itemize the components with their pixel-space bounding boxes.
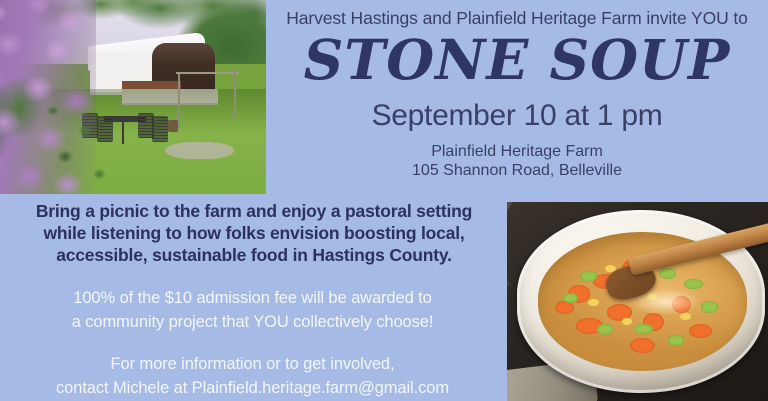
event-description: Bring a picnic to the farm and enjoy a p… bbox=[0, 200, 508, 266]
barn-dark-highlight bbox=[152, 43, 216, 62]
fee-line: a community project that YOU collectivel… bbox=[0, 310, 505, 334]
description-line: while listening to how folks envision bo… bbox=[0, 222, 508, 244]
description-line: Bring a picnic to the farm and enjoy a p… bbox=[0, 200, 508, 222]
soup-pot-photo bbox=[507, 202, 768, 401]
lilac-leaves bbox=[37, 89, 117, 194]
contact-line: For more information or to get involved, bbox=[0, 352, 505, 376]
patio-table-leg bbox=[122, 122, 124, 143]
event-date: September 10 at 1 pm bbox=[266, 99, 768, 133]
event-poster: Harvest Hastings and Plainfield Heritage… bbox=[0, 0, 768, 401]
invite-line: Harvest Hastings and Plainfield Heritage… bbox=[266, 8, 768, 29]
patio-chair bbox=[152, 116, 168, 141]
clothesline-beam bbox=[176, 72, 240, 74]
stump bbox=[168, 120, 179, 132]
contact-line: contact Michele at Plainfield.heritage.f… bbox=[0, 376, 505, 400]
description-line: accessible, sustainable food in Hastings… bbox=[0, 244, 508, 266]
gravel-pad bbox=[165, 142, 234, 159]
post-right bbox=[234, 70, 236, 120]
page-title: STONE SOUP bbox=[266, 30, 768, 90]
farm-barn-lilac-photo bbox=[0, 0, 266, 194]
venue-name: Plainfield Heritage Farm bbox=[266, 142, 768, 161]
contact-info: For more information or to get involved,… bbox=[0, 352, 505, 400]
admission-fee-note: 100% of the $10 admission fee will be aw… bbox=[0, 286, 505, 334]
post-left bbox=[178, 74, 180, 128]
fee-line: 100% of the $10 admission fee will be aw… bbox=[0, 286, 505, 310]
venue-address: 105 Shannon Road, Belleville bbox=[266, 161, 768, 180]
